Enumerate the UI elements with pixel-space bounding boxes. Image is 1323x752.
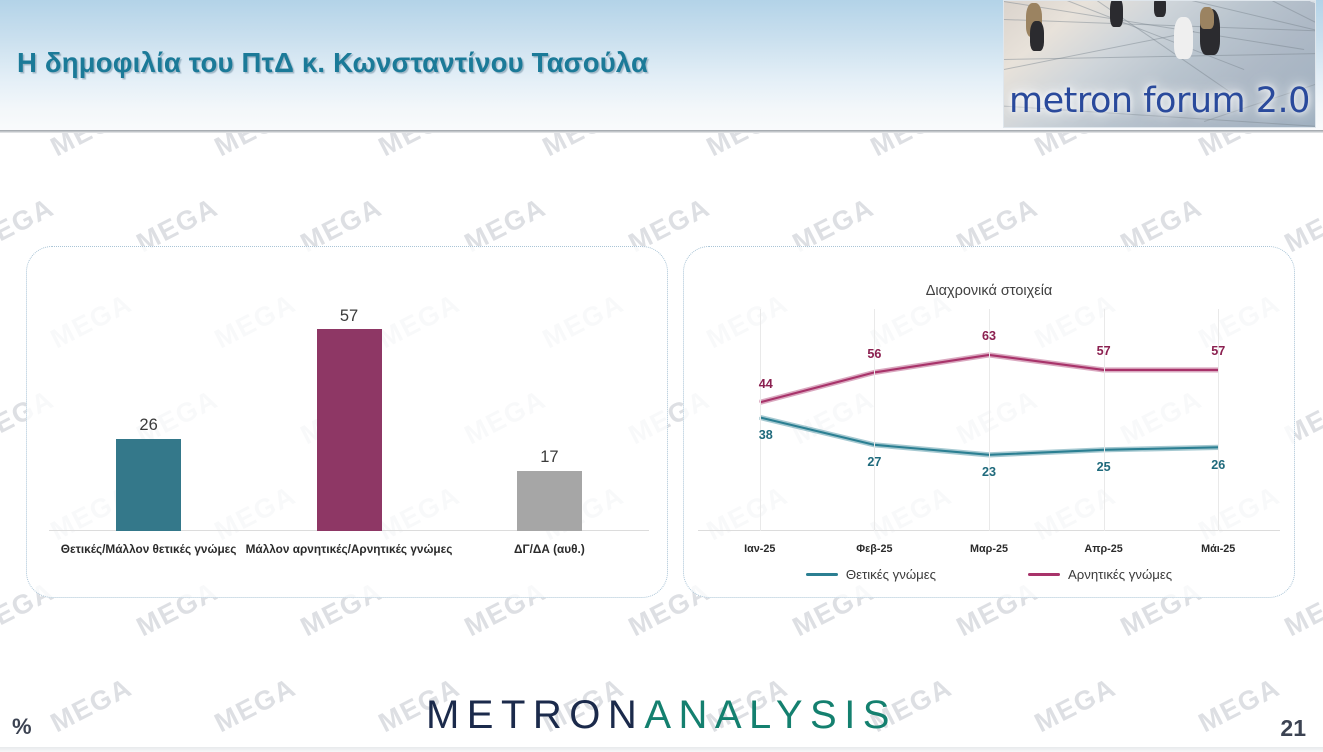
logo-person-figure [1174, 17, 1193, 59]
line-chart-gridline [874, 309, 875, 531]
line-chart-xtick: Φεβ-25 [856, 543, 892, 555]
line-chart: Διαχρονικά στοιχεία 38272325264456635757… [684, 247, 1294, 597]
slide-footer: METRONANALYSIS % 21 [0, 676, 1323, 752]
line-chart-xtick: Μάι-25 [1201, 543, 1235, 555]
bar-value-label: 17 [540, 449, 558, 466]
line-point-label: 25 [1097, 460, 1111, 474]
legend-item[interactable]: Αρνητικές γνώμες [1028, 567, 1172, 582]
legend-label: Θετικές γνώμες [846, 567, 936, 582]
footer-divider [0, 747, 1323, 752]
bar-value-label: 57 [340, 308, 358, 325]
page-title: Η δημοφιλία του ΠτΔ κ. Κωνσταντίνου Τασο… [17, 47, 648, 79]
line-chart-legend: Θετικές γνώμεςΑρνητικές γνώμες [684, 567, 1294, 582]
bar-category-label: ΔΓ/ΔΑ (αυθ.) [419, 542, 679, 556]
line-chart-gridline [760, 309, 761, 531]
line-point-label: 27 [867, 455, 881, 469]
logo-person-figure [1110, 0, 1123, 27]
legend-item[interactable]: Θετικές γνώμες [806, 567, 936, 582]
metron-forum-logo: metron forum 2.0 [1003, 0, 1316, 128]
line-point-label: 23 [982, 465, 996, 479]
line-chart-gridline [1218, 309, 1219, 531]
bar-value-label: 26 [139, 417, 157, 434]
unit-symbol: % [12, 714, 32, 740]
bar-chart: 26Θετικές/Μάλλον θετικές γνώμες57Μάλλον … [27, 247, 667, 597]
line-chart-xtick: Απρ-25 [1084, 543, 1122, 555]
logo-person-figure [1030, 21, 1044, 51]
line-chart-title: Διαχρονικά στοιχεία [684, 283, 1294, 299]
bar-group[interactable]: 17ΔΓ/ΔΑ (αυθ.) [419, 283, 679, 531]
logo-person-figure [1154, 0, 1166, 17]
line-point-label: 38 [759, 428, 773, 442]
bar-rect[interactable] [317, 329, 382, 531]
line-chart-gridline [1104, 309, 1105, 531]
logo-label: metron forum 2.0 [1004, 81, 1315, 121]
logo-person-figure [1200, 7, 1214, 29]
line-chart-card: Διαχρονικά στοιχεία 38272325264456635757… [683, 246, 1295, 598]
line-plot-area: 38272325264456635757Ιαν-25Φεβ-25Μαρ-25Απ… [698, 309, 1280, 531]
bar-plot-area: 26Θετικές/Μάλλον θετικές γνώμες57Μάλλον … [49, 283, 649, 531]
brand-analysis: ANALYSIS [644, 693, 897, 737]
metron-analysis-logo: METRONANALYSIS [0, 693, 1323, 738]
line-chart-xtick: Μαρ-25 [970, 543, 1008, 555]
bar-chart-card: 26Θετικές/Μάλλον θετικές γνώμες57Μάλλον … [26, 246, 668, 598]
line-point-label: 26 [1211, 458, 1225, 472]
brand-metron: METRON [426, 693, 644, 737]
line-chart-xtick: Ιαν-25 [744, 543, 775, 555]
bar-rect[interactable] [517, 471, 582, 531]
line-point-label: 63 [982, 329, 996, 343]
legend-swatch [1028, 573, 1060, 576]
line-point-label: 56 [867, 347, 881, 361]
legend-swatch [806, 573, 838, 576]
bar-rect[interactable] [116, 439, 181, 531]
legend-label: Αρνητικές γνώμες [1068, 567, 1172, 582]
line-point-label: 57 [1097, 344, 1111, 358]
page-number: 21 [1280, 715, 1306, 742]
line-point-label: 44 [759, 377, 773, 391]
line-point-label: 57 [1211, 344, 1225, 358]
